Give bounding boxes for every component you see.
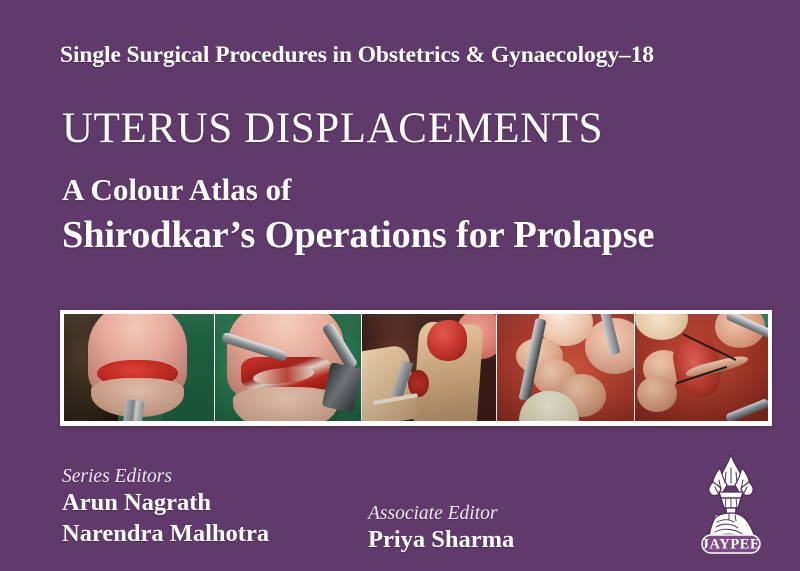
photo-panel-3 (361, 314, 496, 421)
series-title: Single Surgical Procedures in Obstetrics… (60, 42, 760, 69)
series-editors-label: Series Editors (62, 466, 269, 488)
photo-panel-5 (634, 314, 768, 421)
svg-text:JAYPEE: JAYPEE (702, 537, 761, 553)
photo-panel-1 (64, 314, 214, 421)
subtitle-line-2: Shirodkar’s Operations for Prolapse (62, 213, 654, 257)
photo-panel-2 (214, 314, 361, 421)
series-editors-block: Series Editors Arun Nagrath Narendra Mal… (62, 466, 269, 549)
photo-panel-4 (496, 314, 634, 421)
associate-editor-label: Associate Editor (368, 503, 514, 525)
photo-strip (60, 310, 772, 426)
publisher-logo: JAYPEE (695, 452, 767, 556)
page-title: UTERUS DISPLACEMENTS (62, 104, 603, 153)
series-editor-name-1: Arun Nagrath (62, 488, 269, 518)
hand-holding-torch-icon: JAYPEE (695, 452, 767, 556)
book-cover: Single Surgical Procedures in Obstetrics… (0, 0, 800, 571)
subtitle-line-1: A Colour Atlas of (62, 172, 291, 208)
associate-editor-name: Priya Sharma (368, 525, 514, 555)
series-editor-name-2: Narendra Malhotra (62, 519, 269, 549)
associate-editor-block: Associate Editor Priya Sharma (368, 503, 514, 556)
jaypee-wordmark-badge: JAYPEE (702, 535, 761, 553)
